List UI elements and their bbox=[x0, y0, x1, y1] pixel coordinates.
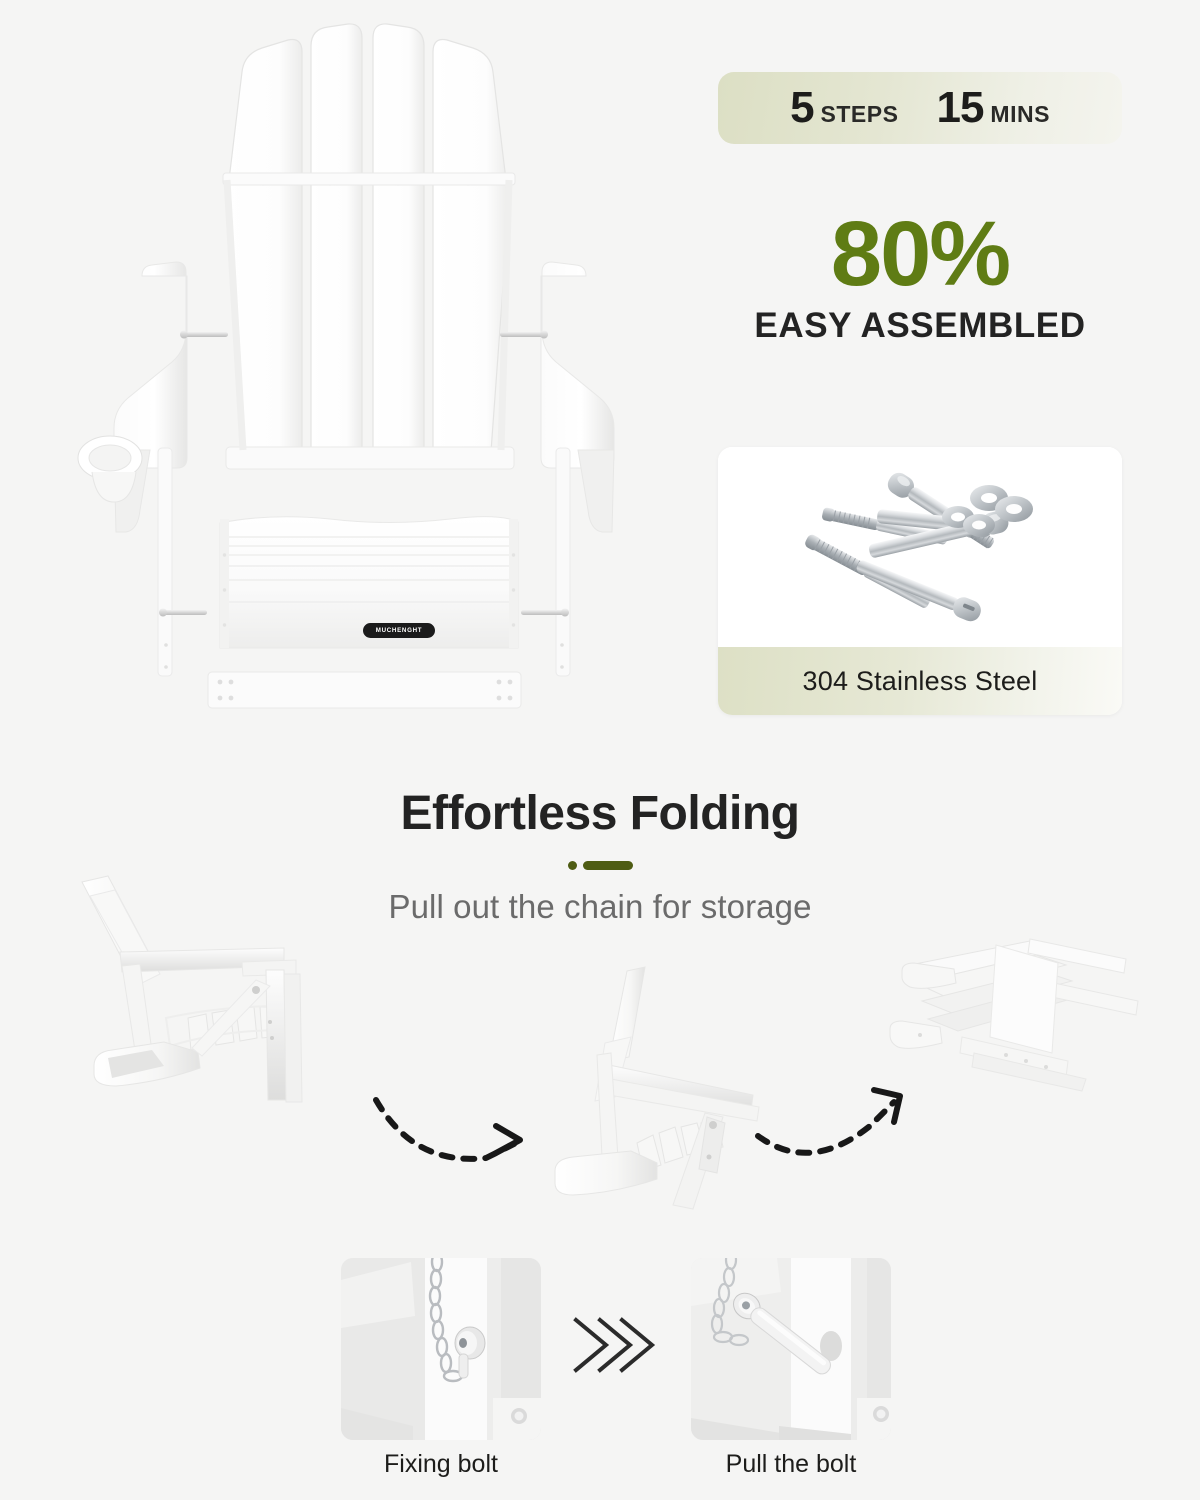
brand-badge-label: MUCHENGHT bbox=[376, 627, 423, 634]
brand-badge: MUCHENGHT bbox=[363, 623, 435, 638]
section-title: Effortless Folding bbox=[0, 786, 1200, 841]
percent-value: 80% bbox=[718, 208, 1122, 302]
folding-sequence bbox=[0, 870, 1200, 1240]
bracket-screw bbox=[511, 1408, 527, 1424]
easy-assembled-highlight: 80% EASY ASSEMBLED bbox=[718, 208, 1122, 346]
curved-dashed-arrow-icon bbox=[752, 1080, 922, 1185]
hardware-caption-label: 304 Stainless Steel bbox=[803, 666, 1038, 697]
hardware-caption: 304 Stainless Steel bbox=[718, 647, 1122, 715]
detail-caption-pull-the-bolt: Pull the bolt bbox=[691, 1450, 891, 1479]
detail-card-fixing-bolt bbox=[341, 1258, 541, 1440]
bracket-screw bbox=[873, 1406, 889, 1422]
fan-back-slats bbox=[226, 24, 509, 465]
flow-arrow-1 bbox=[368, 1086, 543, 1191]
flow-arrow-2 bbox=[752, 1080, 922, 1185]
left-arm-with-cup-holder bbox=[78, 262, 228, 676]
product-infographic: MUCHENGHT 5 STEPS 15 MINS 80% EASY ASSEM… bbox=[0, 0, 1200, 1500]
steps-time-badge: 5 STEPS 15 MINS bbox=[718, 72, 1122, 144]
steps-group: 5 STEPS bbox=[790, 83, 898, 133]
chain-with-bolt-inserted-close-up bbox=[341, 1258, 541, 1440]
chevrons-right-glyph bbox=[562, 1300, 672, 1390]
detail-caption-fixing-bolt: Fixing bolt bbox=[341, 1450, 541, 1479]
steps-value: 5 bbox=[790, 83, 813, 133]
mins-group: 15 MINS bbox=[936, 83, 1049, 133]
chair-assembled-side-view bbox=[60, 870, 390, 1140]
percent-subtitle: EASY ASSEMBLED bbox=[718, 306, 1122, 346]
bolt-6 bbox=[854, 555, 984, 624]
divider-dot bbox=[568, 861, 577, 870]
steps-label: STEPS bbox=[821, 101, 899, 128]
bolts-illustration bbox=[718, 447, 1122, 647]
exploded-chair-diagram: MUCHENGHT bbox=[30, 10, 690, 740]
detail-card-pull-the-bolt bbox=[691, 1258, 891, 1440]
divider-bar bbox=[583, 861, 633, 870]
hardware-card: 304 Stainless Steel bbox=[718, 447, 1122, 715]
exploded-chair-svg bbox=[30, 10, 690, 740]
chevrons-right-icon bbox=[562, 1300, 672, 1390]
bolt-pulled-out-of-hole-close-up bbox=[691, 1258, 891, 1440]
mins-label: MINS bbox=[990, 101, 1050, 128]
mins-value: 15 bbox=[936, 83, 983, 133]
section-divider bbox=[0, 861, 1200, 870]
curved-dashed-arrow-icon bbox=[368, 1086, 543, 1191]
hardware-photo bbox=[718, 447, 1122, 647]
bottom-rail bbox=[208, 672, 521, 708]
folding-step-1 bbox=[60, 870, 390, 1140]
